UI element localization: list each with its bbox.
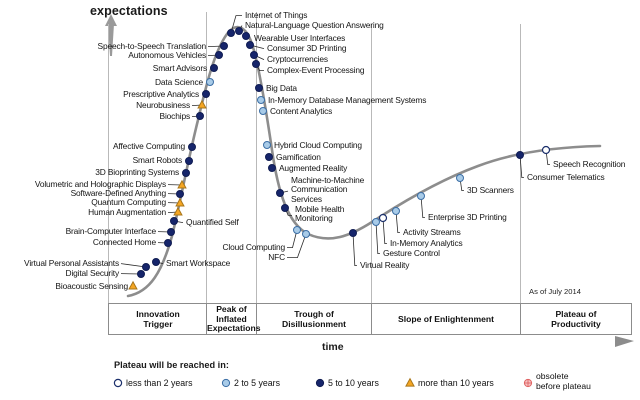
point-label-data-science: Data Science <box>155 78 203 87</box>
point-marker-hybrid-cloud-computing[interactable] <box>264 142 271 149</box>
legend-label-less-than-2-years: less than 2 years <box>126 378 193 388</box>
point-marker-digital-security[interactable] <box>138 271 145 278</box>
point-marker-mobile-health-monitoring[interactable] <box>282 205 289 212</box>
point-label-wearable-user-interfaces: Wearable User Interfaces <box>254 34 345 43</box>
point-marker-gesture-control[interactable] <box>373 219 380 226</box>
as-of-date: As of July 2014 <box>529 287 581 296</box>
legend-label-obsolete-before-plateau: obsoletebefore plateau <box>536 372 591 391</box>
leader-line-gesture-control <box>376 222 380 254</box>
point-label-natural-language-question-answering: Natural-Language Question Answering <box>245 21 384 30</box>
point-label-neurobusiness: Neurobusiness <box>136 101 190 110</box>
point-marker-prescriptive-analytics[interactable] <box>203 91 210 98</box>
point-label-bioacoustic-sensing: Bioacoustic Sensing <box>55 282 128 291</box>
point-label-complex-event-processing: Complex-Event Processing <box>267 66 364 75</box>
point-label-3d-scanners: 3D Scanners <box>467 186 514 195</box>
phase-plateau-of-productivity: Plateau of Productivity <box>521 310 631 329</box>
point-marker-bioacoustic-sensing[interactable] <box>129 282 137 289</box>
point-label-gamification: Gamification <box>276 153 321 162</box>
point-label-in-memory-analytics: In-Memory Analytics <box>390 239 463 248</box>
point-marker-brain-computer-interface[interactable] <box>168 229 175 236</box>
point-label-machine-to-machine-communication-services: Machine-to-MachineCommunicationServices <box>291 176 364 204</box>
phase-slope-of-enlightenment: Slope of Enlightenment <box>372 315 520 325</box>
point-label-in-memory-database-management-systems: In-Memory Database Management Systems <box>268 96 426 105</box>
point-label-human-augmentation: Human Augmentation <box>88 208 166 217</box>
point-marker-connected-home[interactable] <box>165 240 172 247</box>
point-label-line: Services <box>291 195 364 204</box>
point-label-software-defined-anything: Software-Defined Anything <box>71 189 166 198</box>
point-marker-consumer-3d-printing[interactable] <box>247 42 254 49</box>
phase-line: Slope of Enlightenment <box>372 315 520 325</box>
point-marker-augmented-reality[interactable] <box>269 165 276 172</box>
point-marker-big-data[interactable] <box>256 85 263 92</box>
point-marker-wearable-user-interfaces[interactable] <box>243 33 250 40</box>
point-marker-speech-to-speech-translation[interactable] <box>221 43 228 50</box>
phase-innovation-trigger: Innovation Trigger <box>111 310 205 329</box>
point-label-internet-of-things: Internet of Things <box>245 11 307 20</box>
legend-label-5-to-10-years: 5 to 10 years <box>328 378 379 388</box>
point-label-digital-security: Digital Security <box>66 269 119 278</box>
legend-label-more-than-10-years: more than 10 years <box>418 378 494 388</box>
phase-line: Expectations <box>207 324 256 334</box>
point-marker-3d-bioprinting-systems[interactable] <box>183 170 190 177</box>
point-label-volumetric-and-holographic-displays: Volumetric and Holographic Displays <box>35 180 166 189</box>
point-marker-enterprise-3d-printing[interactable] <box>418 193 425 200</box>
point-label-content-analytics: Content Analytics <box>270 107 332 116</box>
point-label-smart-workspace: Smart Workspace <box>166 259 230 268</box>
point-label-consumer-telematics: Consumer Telematics <box>527 173 605 182</box>
point-marker-cryptocurrencies[interactable] <box>251 52 258 59</box>
point-label-hybrid-cloud-computing: Hybrid Cloud Computing <box>274 141 362 150</box>
point-label-brain-computer-interface: Brain-Computer Interface <box>66 227 156 236</box>
point-label-smart-advisors: Smart Advisors <box>153 64 207 73</box>
point-marker-smart-robots[interactable] <box>186 158 193 165</box>
time-arrow-icon <box>615 336 634 347</box>
point-marker-in-memory-database-management-systems[interactable] <box>258 97 265 104</box>
point-label-augmented-reality: Augmented Reality <box>279 164 347 173</box>
point-label-connected-home: Connected Home <box>93 238 156 247</box>
point-marker-quantified-self[interactable] <box>171 218 178 225</box>
legend-title: Plateau will be reached in: <box>114 360 229 370</box>
phase-line: Trigger <box>111 320 205 330</box>
point-label-prescriptive-analytics: Prescriptive Analytics <box>123 90 199 99</box>
point-marker-autonomous-vehicles[interactable] <box>216 52 223 59</box>
point-label-cryptocurrencies: Cryptocurrencies <box>267 55 328 64</box>
point-marker-consumer-telematics[interactable] <box>517 152 524 159</box>
leader-line-nfc <box>287 234 306 258</box>
point-label-nfc: NFC <box>268 253 285 262</box>
point-marker-biochips[interactable] <box>197 113 204 120</box>
point-marker-complex-event-processing[interactable] <box>253 61 260 68</box>
point-label-enterprise-3d-printing: Enterprise 3D Printing <box>428 213 507 222</box>
leader-line-virtual-reality <box>353 233 357 266</box>
point-marker-smart-advisors[interactable] <box>211 65 218 72</box>
phase-line: Disillusionment <box>258 320 370 330</box>
point-marker-activity-streams[interactable] <box>393 208 400 215</box>
point-label-consumer-3d-printing: Consumer 3D Printing <box>267 44 346 53</box>
point-marker-machine-to-machine-communication-services[interactable] <box>277 190 284 197</box>
point-marker-affective-computing[interactable] <box>189 144 196 151</box>
point-label-cloud-computing: Cloud Computing <box>223 243 285 252</box>
point-label-autonomous-vehicles: Autonomous Vehicles <box>128 51 206 60</box>
phase-peak-of-inflated-expectations: Peak of Inflated Expectations <box>207 305 256 334</box>
point-label-gesture-control: Gesture Control <box>383 249 440 258</box>
point-label-quantum-computing: Quantum Computing <box>91 198 166 207</box>
point-marker-natural-language-question-answering[interactable] <box>236 28 243 35</box>
hype-cycle-chart: expectations time As of July 2014 Innova… <box>0 0 640 400</box>
point-label-affective-computing: Affective Computing <box>113 142 185 151</box>
point-label-3d-bioprinting-systems: 3D Bioprinting Systems <box>95 168 179 177</box>
point-marker-human-augmentation[interactable] <box>174 208 182 215</box>
point-marker-gamification[interactable] <box>266 154 273 161</box>
legend-label-2-to-5-years: 2 to 5 years <box>234 378 280 388</box>
point-marker-smart-workspace[interactable] <box>153 259 160 266</box>
legend-label-line: before plateau <box>536 382 591 392</box>
point-label-activity-streams: Activity Streams <box>403 228 461 237</box>
point-marker-internet-of-things[interactable] <box>228 30 235 37</box>
point-label-big-data: Big Data <box>266 84 297 93</box>
phase-line: Productivity <box>521 320 631 330</box>
point-marker-virtual-reality[interactable] <box>350 230 357 237</box>
point-marker-quantum-computing[interactable] <box>176 199 184 206</box>
point-label-virtual-reality: Virtual Reality <box>360 261 409 270</box>
point-marker-cloud-computing[interactable] <box>294 227 301 234</box>
point-marker-in-memory-analytics[interactable] <box>380 215 387 222</box>
x-axis-title: time <box>322 341 344 353</box>
point-marker-virtual-personal-assistants[interactable] <box>143 264 150 271</box>
point-label-biochips: Biochips <box>160 112 190 121</box>
point-marker-nfc[interactable] <box>303 231 310 238</box>
point-label-smart-robots: Smart Robots <box>133 156 182 165</box>
point-label-quantified-self: Quantified Self <box>186 218 239 227</box>
point-marker-3d-scanners[interactable] <box>457 175 464 182</box>
point-label-speech-to-speech-translation: Speech-to-Speech Translation <box>98 42 206 51</box>
y-axis-title: expectations <box>90 4 168 18</box>
phase-trough-of-disillusionment: Trough of Disillusionment <box>258 310 370 329</box>
point-marker-neurobusiness[interactable] <box>198 101 206 108</box>
point-label-virtual-personal-assistants: Virtual Personal Assistants <box>24 259 119 268</box>
point-marker-software-defined-anything[interactable] <box>177 191 184 198</box>
point-marker-content-analytics[interactable] <box>260 108 267 115</box>
point-label-mobile-health-monitoring: Mobile HealthMonitoring <box>295 205 344 224</box>
point-marker-speech-recognition[interactable] <box>543 147 550 154</box>
point-label-line: Monitoring <box>295 214 344 223</box>
point-marker-data-science[interactable] <box>207 79 214 86</box>
point-label-speech-recognition: Speech Recognition <box>553 160 625 169</box>
